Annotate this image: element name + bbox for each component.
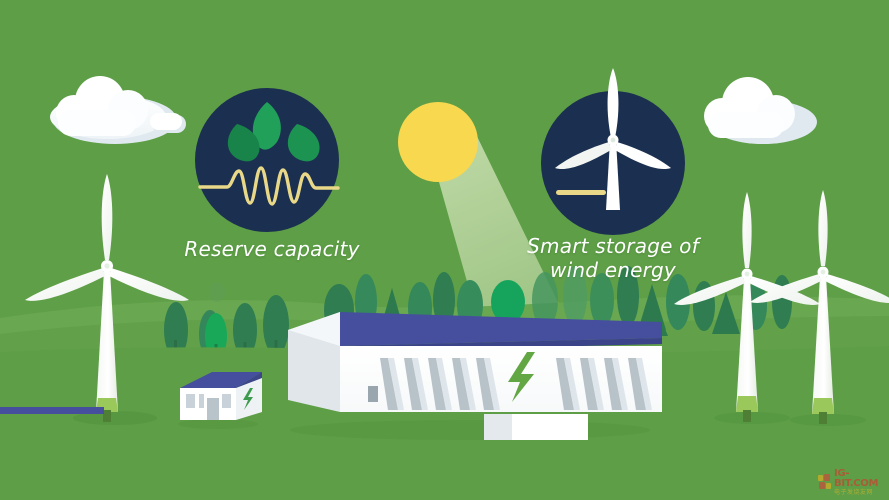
watermark: IG-BIT.COM 电子发烧友网 — [818, 470, 886, 494]
badge-bar — [556, 190, 606, 195]
annex-front — [512, 414, 588, 440]
watermark-logo-icon — [818, 474, 832, 490]
watermark-title: IG-BIT.COM — [834, 469, 886, 489]
annex-side — [484, 414, 512, 440]
illustration-canvas: Reserve capacity Smart storage of wind e… — [0, 0, 889, 500]
label-smart-storage: Smart storage of wind energy — [512, 234, 714, 282]
watermark-text: IG-BIT.COM 电子发烧友网 — [834, 469, 886, 496]
scene-svg — [0, 0, 889, 500]
watermark-subtitle: 电子发烧友网 — [834, 490, 886, 496]
sun-icon — [398, 102, 478, 182]
annex-roof — [0, 407, 104, 414]
label-reserve-capacity: Reserve capacity — [176, 237, 368, 261]
building-service-door — [368, 386, 378, 402]
badge-reserve-capacity — [195, 88, 339, 232]
cloud-small-left — [150, 113, 186, 133]
